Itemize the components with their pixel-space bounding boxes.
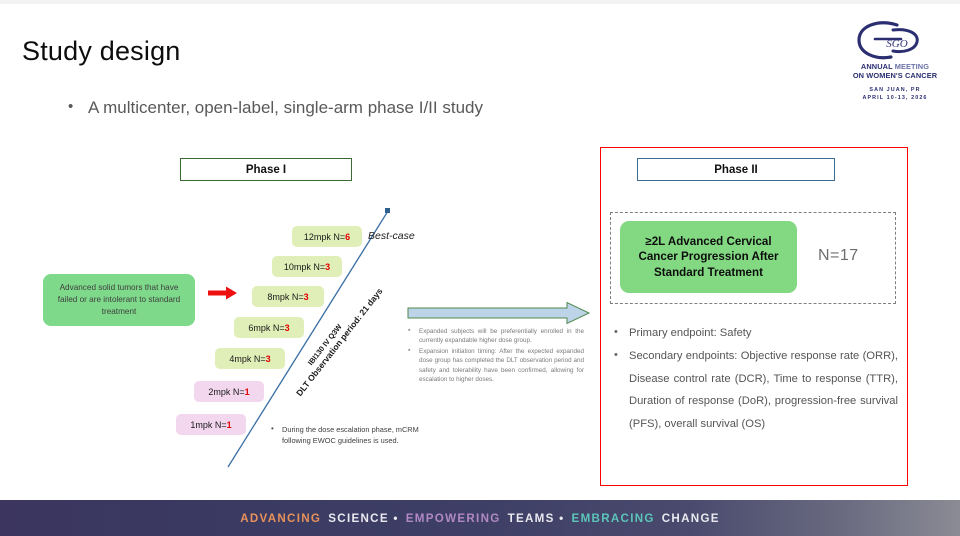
dose-n-4mpk: 3 [266, 354, 271, 364]
patient-population-box: Advanced solid tumors that have failed o… [43, 274, 195, 326]
dose-n-6mpk: 3 [285, 323, 290, 333]
bullet-dot-icon: • [614, 321, 618, 343]
dose-level-12mpk: 12mpk N=6 [292, 226, 362, 247]
mcrm-note-text: During the dose escalation phase, mCRM f… [282, 425, 419, 445]
dose-label-6mpk: 6mpk N= [248, 323, 284, 333]
phase2-header: Phase II [637, 158, 835, 181]
dose-level-6mpk: 6mpk N=3 [234, 317, 304, 338]
banner-word-change: CHANGE [662, 512, 720, 525]
endpoint-primary: • Primary endpoint: Safety [612, 322, 898, 344]
dose-level-8mpk: 8mpk N=3 [252, 286, 324, 307]
bottom-banner: ADVANCINGSCIENCE •EMPOWERINGTEAMS •EMBRA… [0, 500, 960, 536]
phase2-enrollment: N=17 [818, 247, 859, 265]
banner-word-science: SCIENCE • [328, 512, 399, 525]
banner-word-embracing: EMBRACING [572, 512, 655, 525]
dose-label-4mpk: 4mpk N= [229, 354, 265, 364]
dose-label-10mpk: 10mpk N= [284, 262, 325, 272]
expansion-note-1: Expanded subjects will be preferentially… [419, 328, 584, 344]
page-title: Study design [22, 36, 181, 67]
top-strip [0, 0, 960, 4]
phase2-endpoints: • Primary endpoint: Safety • Secondary e… [612, 322, 898, 436]
logo-meta: SAN JUAN, PR APRIL 10-13, 2026 [845, 86, 945, 103]
logo-dates: APRIL 10-13, 2026 [845, 94, 945, 102]
sgo-logo: SGO ANNUAL MEETING ON WOMEN'S CANCER SAN… [845, 20, 945, 108]
slide-canvas: Study design • A multicenter, open-label… [0, 0, 960, 536]
svg-text:SGO: SGO [886, 38, 907, 50]
dose-level-1mpk: 1mpk N=1 [176, 414, 246, 435]
dose-level-4mpk: 4mpk N=3 [215, 348, 285, 369]
banner-text: ADVANCINGSCIENCE •EMPOWERINGTEAMS •EMBRA… [240, 512, 720, 525]
logo-annual: ANNUAL [861, 62, 893, 71]
bullet-dot-icon: ▪ [408, 326, 410, 336]
dose-n-2mpk: 1 [245, 387, 250, 397]
dose-label-1mpk: 1mpk N= [190, 420, 226, 430]
dose-label-8mpk: 8mpk N= [267, 292, 303, 302]
bullet-dot-icon: ▪ [408, 346, 410, 356]
endpoint-primary-text: Primary endpoint: Safety [629, 327, 752, 339]
expansion-notes: ▪Expanded subjects will be preferentiall… [406, 327, 584, 386]
endpoint-secondary: • Secondary endpoints: Objective respons… [612, 345, 898, 435]
dose-label-2mpk: 2mpk N= [208, 387, 244, 397]
dose-n-12mpk: 6 [345, 232, 350, 242]
subtitle-bullet: • A multicenter, open-label, single-arm … [68, 97, 708, 119]
sgo-mark-icon: SGO [853, 20, 937, 62]
dose-level-2mpk: 2mpk N=1 [194, 381, 264, 402]
dose-label-12mpk: 12mpk N= [304, 232, 345, 242]
subtitle-text: A multicenter, open-label, single-arm ph… [88, 97, 708, 119]
dose-level-10mpk: 10mpk N=3 [272, 256, 342, 277]
mcrm-note: •During the dose escalation phase, mCRM … [270, 424, 435, 446]
expansion-note-2: Expansion initiation timing: After the e… [419, 348, 584, 382]
dose-n-1mpk: 1 [227, 420, 232, 430]
transition-arrow-icon [407, 301, 591, 325]
endpoint-secondary-text: Secondary endpoints: Objective response … [629, 350, 898, 429]
logo-line2: ON WOMEN'S CANCER [845, 71, 945, 80]
phase2-population-box: ≥2L Advanced Cervical Cancer Progression… [620, 221, 797, 293]
bullet-dot-icon: • [271, 423, 274, 435]
banner-word-empowering: EMPOWERING [406, 512, 501, 525]
banner-word-teams: TEAMS • [508, 512, 565, 525]
logo-line1: ANNUAL MEETING ON WOMEN'S CANCER [845, 62, 945, 81]
dose-n-10mpk: 3 [325, 262, 330, 272]
logo-meeting: MEETING [895, 62, 929, 71]
bullet-dot-icon: • [614, 344, 618, 366]
dose-n-8mpk: 3 [304, 292, 309, 302]
bullet-dot-icon: • [68, 97, 73, 117]
logo-location: SAN JUAN, PR [845, 86, 945, 94]
best-case-label: Best-case [368, 230, 415, 242]
phase1-header: Phase I [180, 158, 352, 181]
banner-word-advancing: ADVANCING [240, 512, 321, 525]
